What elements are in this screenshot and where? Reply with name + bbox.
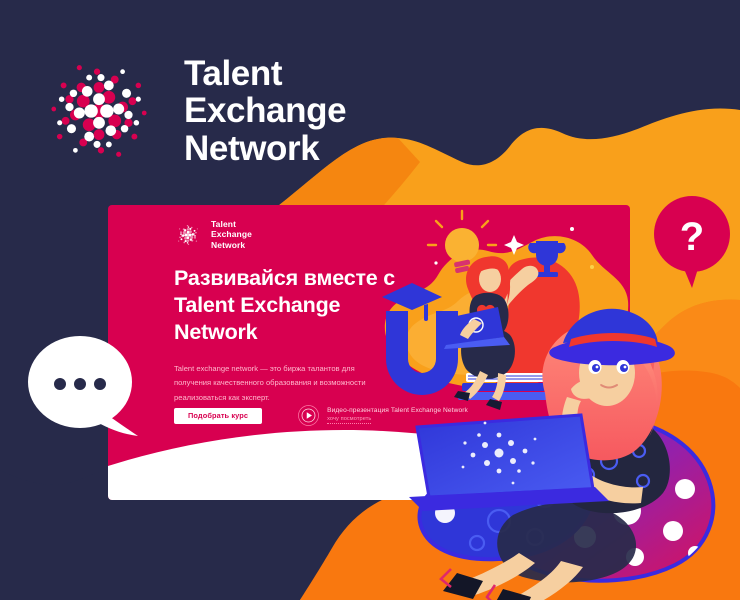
radial-dot-spiral-logo-icon [40,52,158,170]
video-presentation-link[interactable]: Видео-презентация Talent Exchange Networ… [298,405,468,426]
brand-lockup: Talent Exchange Network [40,52,346,170]
speech-bubble-question-icon: ? [648,196,736,288]
card-copy: Развивайся вместе с Talent Exchange Netw… [174,265,404,405]
card-paragraph: Talent exchange network — это биржа тала… [174,362,382,406]
play-circle-icon[interactable] [298,405,319,426]
select-course-button[interactable]: Подобрать курс [174,408,262,424]
card-heading: Развивайся вместе с Talent Exchange Netw… [174,265,404,346]
brand-name: Talent Exchange Network [184,55,346,167]
poster-canvas: Talent Exchange Network [0,0,740,600]
video-link-subtitle: хочу посмотреть [327,416,371,424]
card-logo-lockup: Talent Exchange Network [174,219,252,250]
video-link-text: Видео-презентация Talent Exchange Networ… [327,407,468,424]
speech-bubble-ellipsis-icon [26,332,144,444]
card-actions: Подобрать курс Видео-презентация Talent … [174,405,468,426]
radial-dot-spiral-logo-icon [174,221,202,249]
card-logo-name: Talent Exchange Network [211,219,252,250]
woman-with-laptop-on-beanbag-illustration [395,285,740,600]
video-link-title: Видео-презентация Talent Exchange Networ… [327,407,468,414]
svg-text:?: ? [680,215,704,259]
